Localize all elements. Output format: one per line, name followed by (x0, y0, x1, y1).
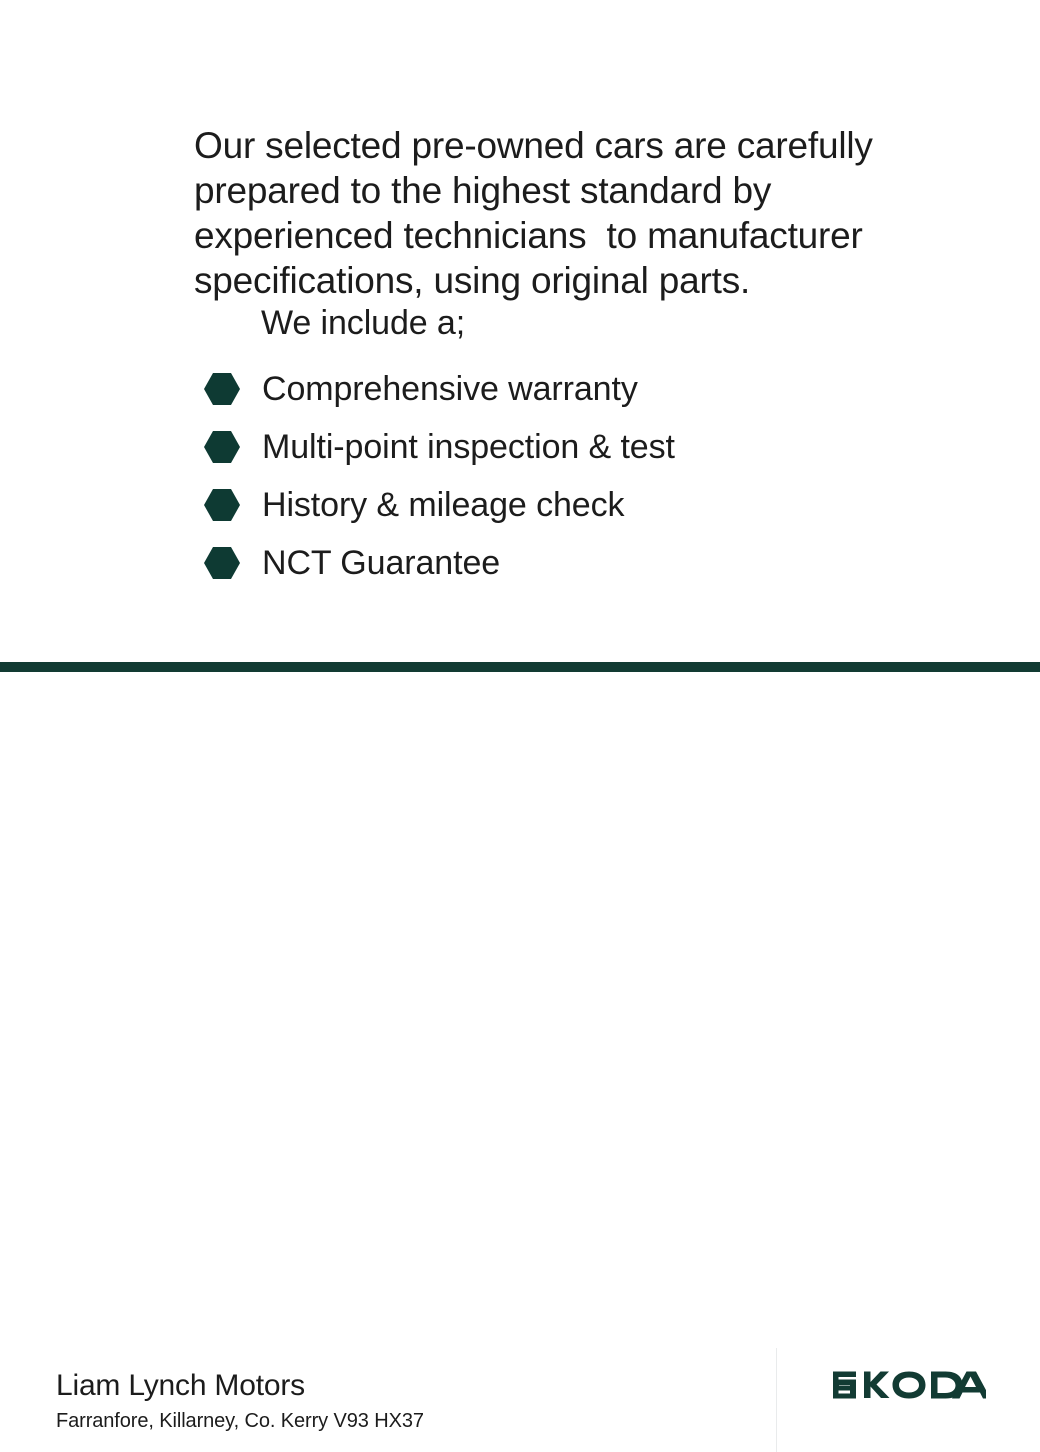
footer: Liam Lynch Motors Farranfore, Killarney,… (0, 672, 1040, 780)
list-item-label: Comprehensive warranty (262, 369, 638, 409)
hexagon-bullet-icon (204, 547, 240, 579)
list-item-label: Multi-point inspection & test (262, 427, 675, 467)
footer-accent-rule (0, 662, 1040, 672)
hexagon-bullet-icon (204, 373, 240, 405)
footer-vertical-divider (776, 1348, 777, 1452)
list-item: Multi-point inspection & test (204, 418, 904, 476)
benefits-list: Comprehensive warranty Multi-point inspe… (204, 360, 904, 592)
dealer-address: Farranfore, Killarney, Co. Kerry V93 HX3… (56, 1408, 424, 1434)
skoda-wordmark-logo (831, 1369, 986, 1401)
list-item: History & mileage check (204, 476, 904, 534)
list-item: NCT Guarantee (204, 534, 904, 592)
promo-slide: Our selected pre-owned cars are carefull… (0, 0, 1040, 780)
hexagon-bullet-icon (204, 489, 240, 521)
include-lead-in: We include a; (261, 302, 465, 344)
headline-paragraph: Our selected pre-owned cars are carefull… (194, 123, 884, 303)
list-item-label: NCT Guarantee (262, 543, 500, 583)
list-item-label: History & mileage check (262, 485, 624, 525)
dealer-name: Liam Lynch Motors (56, 1368, 305, 1404)
hexagon-bullet-icon (204, 431, 240, 463)
list-item: Comprehensive warranty (204, 360, 904, 418)
